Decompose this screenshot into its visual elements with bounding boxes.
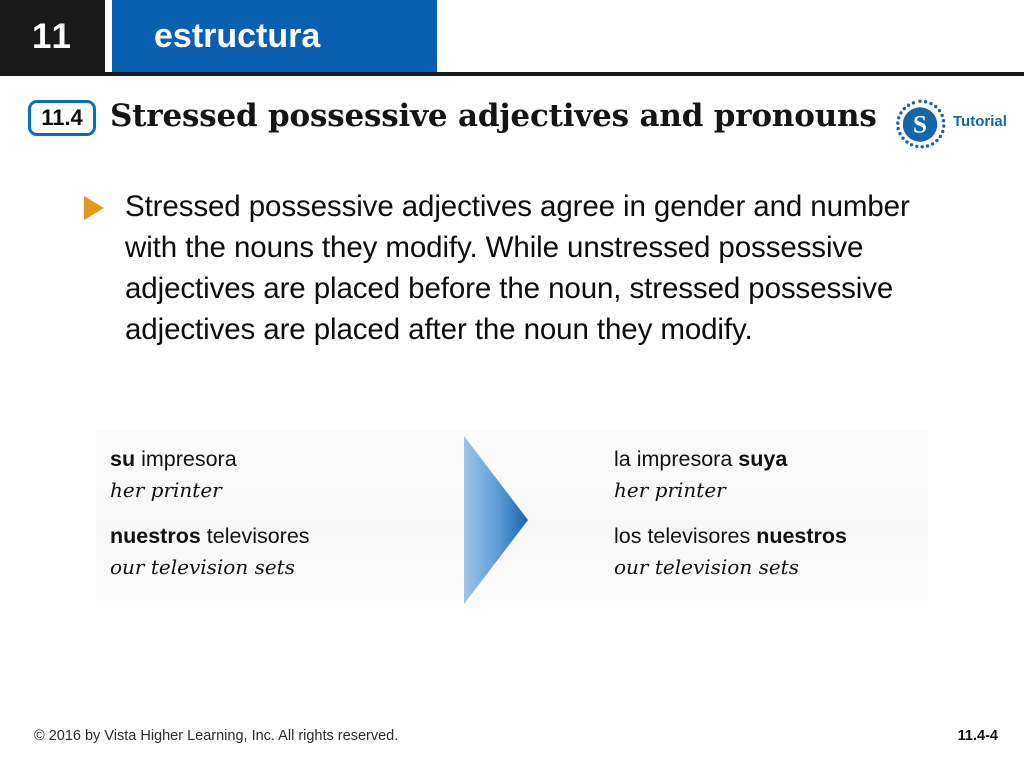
tutorial-label[interactable]: Tutorial <box>953 114 1007 129</box>
bullet-block: Stressed possessive adjectives agree in … <box>84 186 964 350</box>
examples-panel: su impresora her printer nuestros televi… <box>96 430 928 608</box>
example-spanish: nuestros televisores <box>110 521 460 551</box>
example-spanish: los televisores nuestros <box>614 521 924 551</box>
example-spanish-lead: los televisores <box>614 524 756 548</box>
example-english: our television sets <box>614 552 924 582</box>
example-english: her printer <box>614 475 924 505</box>
example-spanish: la impresora suya <box>614 444 924 474</box>
example-english: our television sets <box>110 552 460 582</box>
page-title: Stressed possessive adjectives and prono… <box>110 96 877 138</box>
transformation-arrow-icon <box>464 436 532 604</box>
example-spanish-bold: nuestros <box>756 524 847 548</box>
example-spanish-lead: la impresora <box>614 447 738 471</box>
tutorial-badge[interactable]: S Tutorial <box>893 96 1017 154</box>
copyright-notice: © 2016 by Vista Higher Learning, Inc. Al… <box>34 729 398 744</box>
section-name: estructura <box>112 19 320 53</box>
example-spanish-bold: nuestros <box>110 524 201 548</box>
example-pair: los televisores nuestros our television … <box>614 521 924 582</box>
section-number-badge: 11.4 <box>28 100 96 136</box>
slide-header: 11 estructura <box>0 0 1024 72</box>
example-spanish-bold: suya <box>738 447 787 471</box>
svg-text:S: S <box>913 112 927 139</box>
example-spanish: su impresora <box>110 444 460 474</box>
section-number-badge-label: 11.4 <box>41 107 83 129</box>
examples-column-stressed: la impresora suya her printer los televi… <box>614 444 924 582</box>
chapter-number: 11 <box>32 19 73 54</box>
example-spanish-rest: televisores <box>201 524 310 548</box>
header-divider <box>0 72 1024 76</box>
example-spanish-bold: su <box>110 447 135 471</box>
tutorial-s-circle-icon[interactable]: S <box>893 98 947 152</box>
page-number: 11.4-4 <box>958 729 998 744</box>
title-row: 11.4 Stressed possessive adjectives and … <box>0 96 1024 152</box>
triangle-bullet-icon <box>84 196 104 220</box>
section-name-block: estructura <box>112 0 437 72</box>
chapter-number-block: 11 <box>0 0 105 72</box>
examples-column-unstressed: su impresora her printer nuestros televi… <box>110 444 460 582</box>
bullet-text: Stressed possessive adjectives agree in … <box>125 186 964 350</box>
example-pair: su impresora her printer <box>110 444 460 505</box>
example-spanish-rest: impresora <box>135 447 237 471</box>
example-pair: la impresora suya her printer <box>614 444 924 505</box>
example-english: her printer <box>110 475 460 505</box>
example-pair: nuestros televisores our television sets <box>110 521 460 582</box>
